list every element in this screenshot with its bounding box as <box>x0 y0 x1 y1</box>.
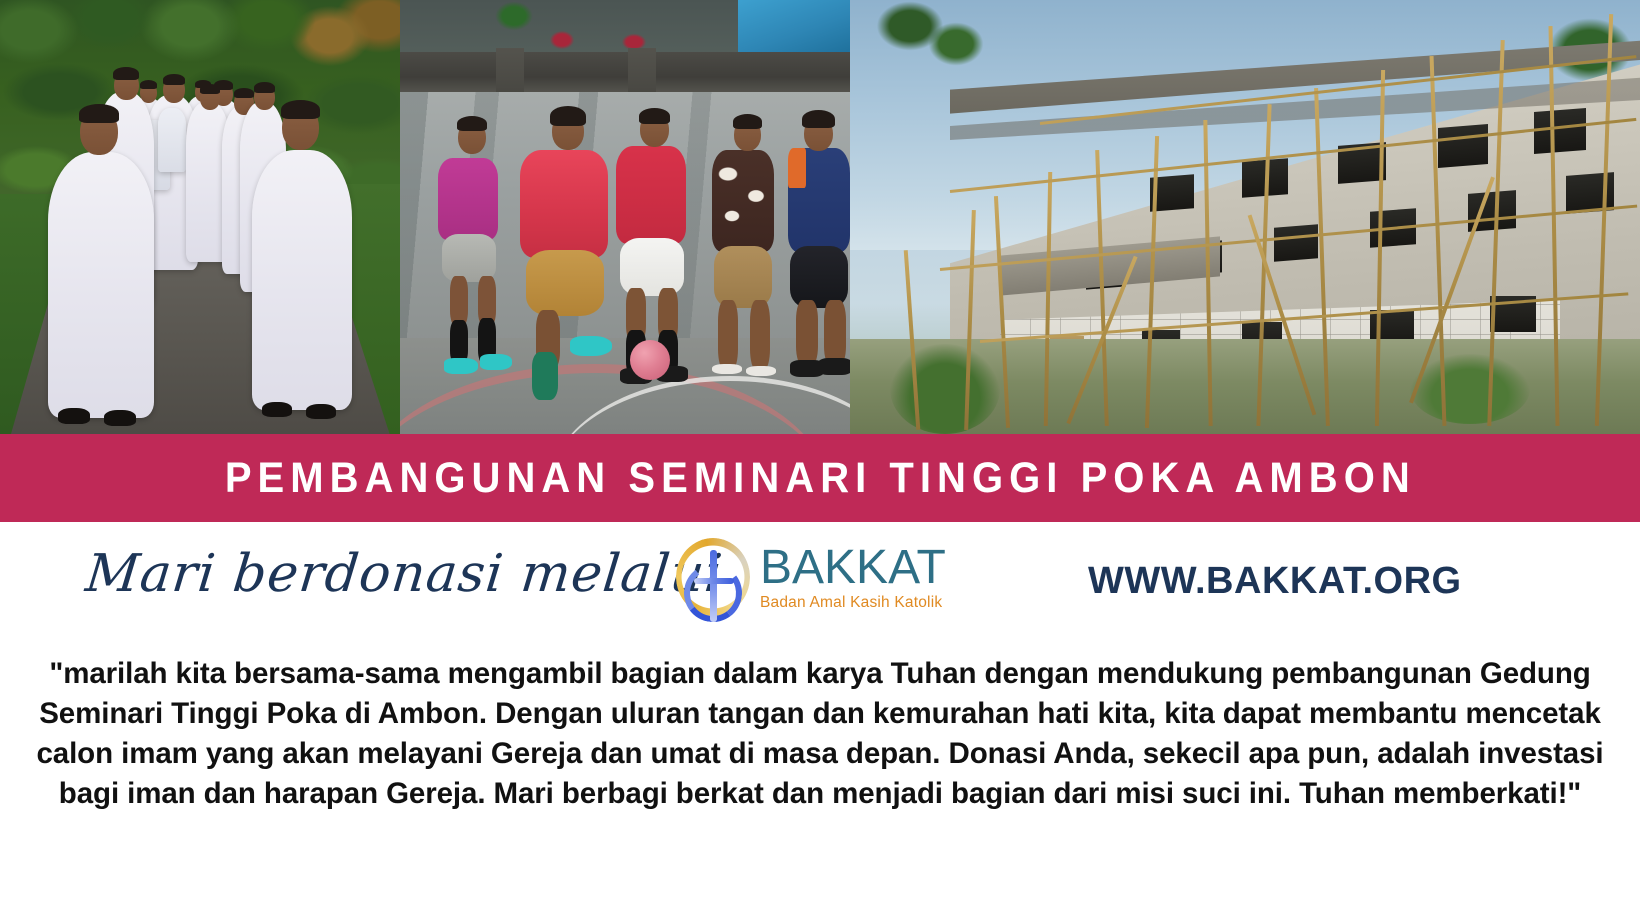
photo-strip <box>0 0 1640 434</box>
logo-tagline: Badan Amal Kasih Katolik <box>760 594 946 612</box>
player-shorts <box>790 246 848 308</box>
seminarian-hair <box>163 74 185 85</box>
spectator-camo-torso <box>712 150 774 252</box>
spectator-sandal <box>746 366 776 376</box>
player-sock <box>532 352 558 400</box>
player-shorts <box>526 250 604 316</box>
seminarian-hair <box>234 88 254 98</box>
player-hair <box>802 110 835 128</box>
player-red-front-torso <box>616 146 686 244</box>
seminarian-hair <box>254 82 275 93</box>
logo-wordmark: BAKKAT <box>760 544 946 593</box>
logo-text-block: BAKKAT Badan Amal Kasih Katolik <box>760 544 946 612</box>
shoe <box>104 410 136 426</box>
spectator-hair <box>733 114 762 129</box>
player-hair <box>550 106 586 126</box>
player-hair <box>639 108 670 124</box>
headline-banner: PEMBANGUNAN SEMINARI TINGGI POKA AMBON <box>0 434 1640 522</box>
shoe <box>262 402 292 417</box>
football <box>630 340 670 380</box>
donate-invitation-text: Mari berdonasi melalui <box>83 544 726 604</box>
player-hair <box>457 116 487 131</box>
spectator-leg <box>718 300 738 370</box>
seminarian-hair <box>281 100 320 119</box>
window-opening <box>1534 108 1586 154</box>
cross-in-arc-icon <box>672 534 754 622</box>
player-boot <box>818 358 850 375</box>
shrub <box>890 344 1000 434</box>
spectator-sandal <box>712 364 742 374</box>
window-opening <box>1274 224 1318 261</box>
player-red-back-torso <box>520 150 608 258</box>
player-leg <box>796 300 818 366</box>
seminarian-figure-front-left <box>48 152 154 418</box>
spectator-shorts <box>714 246 772 308</box>
spectator-leg <box>750 300 770 370</box>
shoe <box>306 404 336 419</box>
seminarian-hair <box>200 84 220 94</box>
seminarians-procession-photo <box>0 0 400 434</box>
seminarian-figure-front-right <box>252 150 352 410</box>
shoe <box>58 408 90 424</box>
construction-site-photo <box>850 0 1640 434</box>
bakkat-logo[interactable]: BAKKAT Badan Amal Kasih Katolik <box>672 534 946 622</box>
blue-tarpaulin <box>738 0 850 58</box>
window-opening <box>1438 124 1488 168</box>
palm-foliage <box>492 0 538 50</box>
player-leg <box>824 300 846 366</box>
page-title: PEMBANGUNAN SEMINARI TINGGI POKA AMBON <box>225 454 1416 503</box>
seminarian-hair <box>79 104 119 123</box>
player-magenta-torso <box>438 158 498 240</box>
shrub <box>1410 354 1530 424</box>
red-plant <box>546 26 580 52</box>
donate-row: Mari berdonasi melalui BAKKAT Badan Amal… <box>0 522 1640 650</box>
wall-cap <box>400 52 850 94</box>
player-boot <box>570 336 612 356</box>
cross-horizontal-bar <box>694 578 734 584</box>
website-url[interactable]: WWW.BAKKAT.ORG <box>1088 560 1462 603</box>
player-leg <box>450 276 468 326</box>
player-boot <box>480 354 512 370</box>
player-shoulder-accent <box>788 148 806 188</box>
seminarian-hair <box>113 67 139 80</box>
player-shorts <box>442 234 496 282</box>
seminarian-hair <box>140 80 157 89</box>
football-match-photo <box>400 0 850 434</box>
woman-figure <box>158 108 186 172</box>
donation-poster: PEMBANGUNAN SEMINARI TINGGI POKA AMBON M… <box>0 0 1640 924</box>
player-boot <box>444 358 478 374</box>
player-shorts-white <box>620 238 684 296</box>
quote-paragraph: "marilah kita bersama-sama mengambil bag… <box>0 650 1640 814</box>
cross-vertical-bar <box>710 550 717 622</box>
